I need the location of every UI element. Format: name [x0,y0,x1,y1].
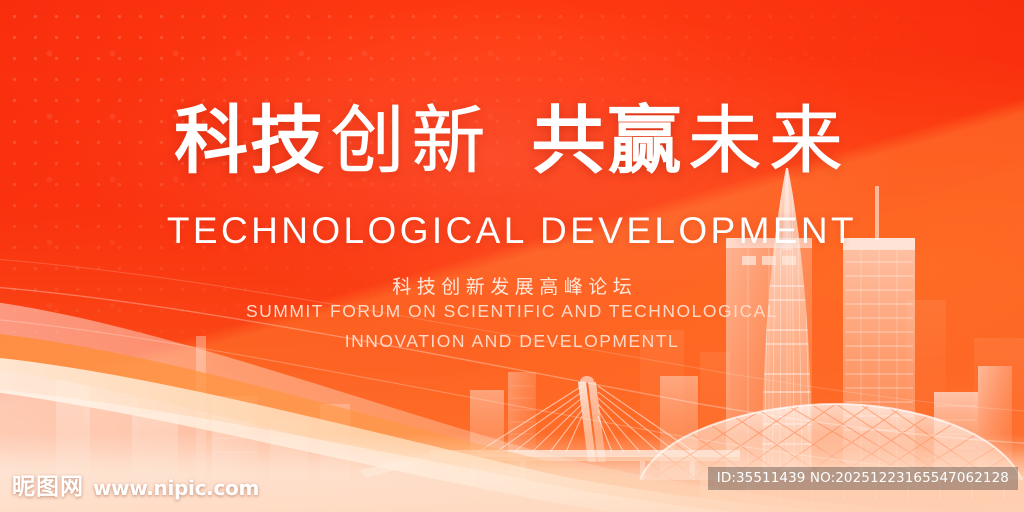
watermark-logo: 昵图网 [12,475,84,498]
poster-canvas: 科技 创新 共赢 未来 TECHNOLOGICAL DEVELOPMENT 科技… [0,0,1024,512]
watermark-url: www.nipic.com [93,478,259,498]
headline-segment-4: 未来 [688,104,850,178]
watermark: 昵图网 www.nipic.com [12,475,259,498]
headline-segment-1: 科技 [174,104,326,178]
headline-segment-3: 共赢 [531,104,683,178]
forum-name-english-line2: INNOVATION AND DEVELOPMENTL [0,331,1024,352]
forum-name-chinese: 科技创新发展高峰论坛 [0,272,1024,299]
headline-segment-2: 创新 [331,104,493,178]
subtitle-english: TECHNOLOGICAL DEVELOPMENT [0,210,1024,252]
cityscape-artwork [0,0,1024,512]
headline: 科技 创新 共赢 未来 [0,104,1024,178]
forum-name-english-line1: SUMMIT FORUM ON SCIENTIFIC AND TECHNOLOG… [0,301,1024,322]
id-plate: ID:35511439 NO:20251223165547062128 [708,467,1018,490]
